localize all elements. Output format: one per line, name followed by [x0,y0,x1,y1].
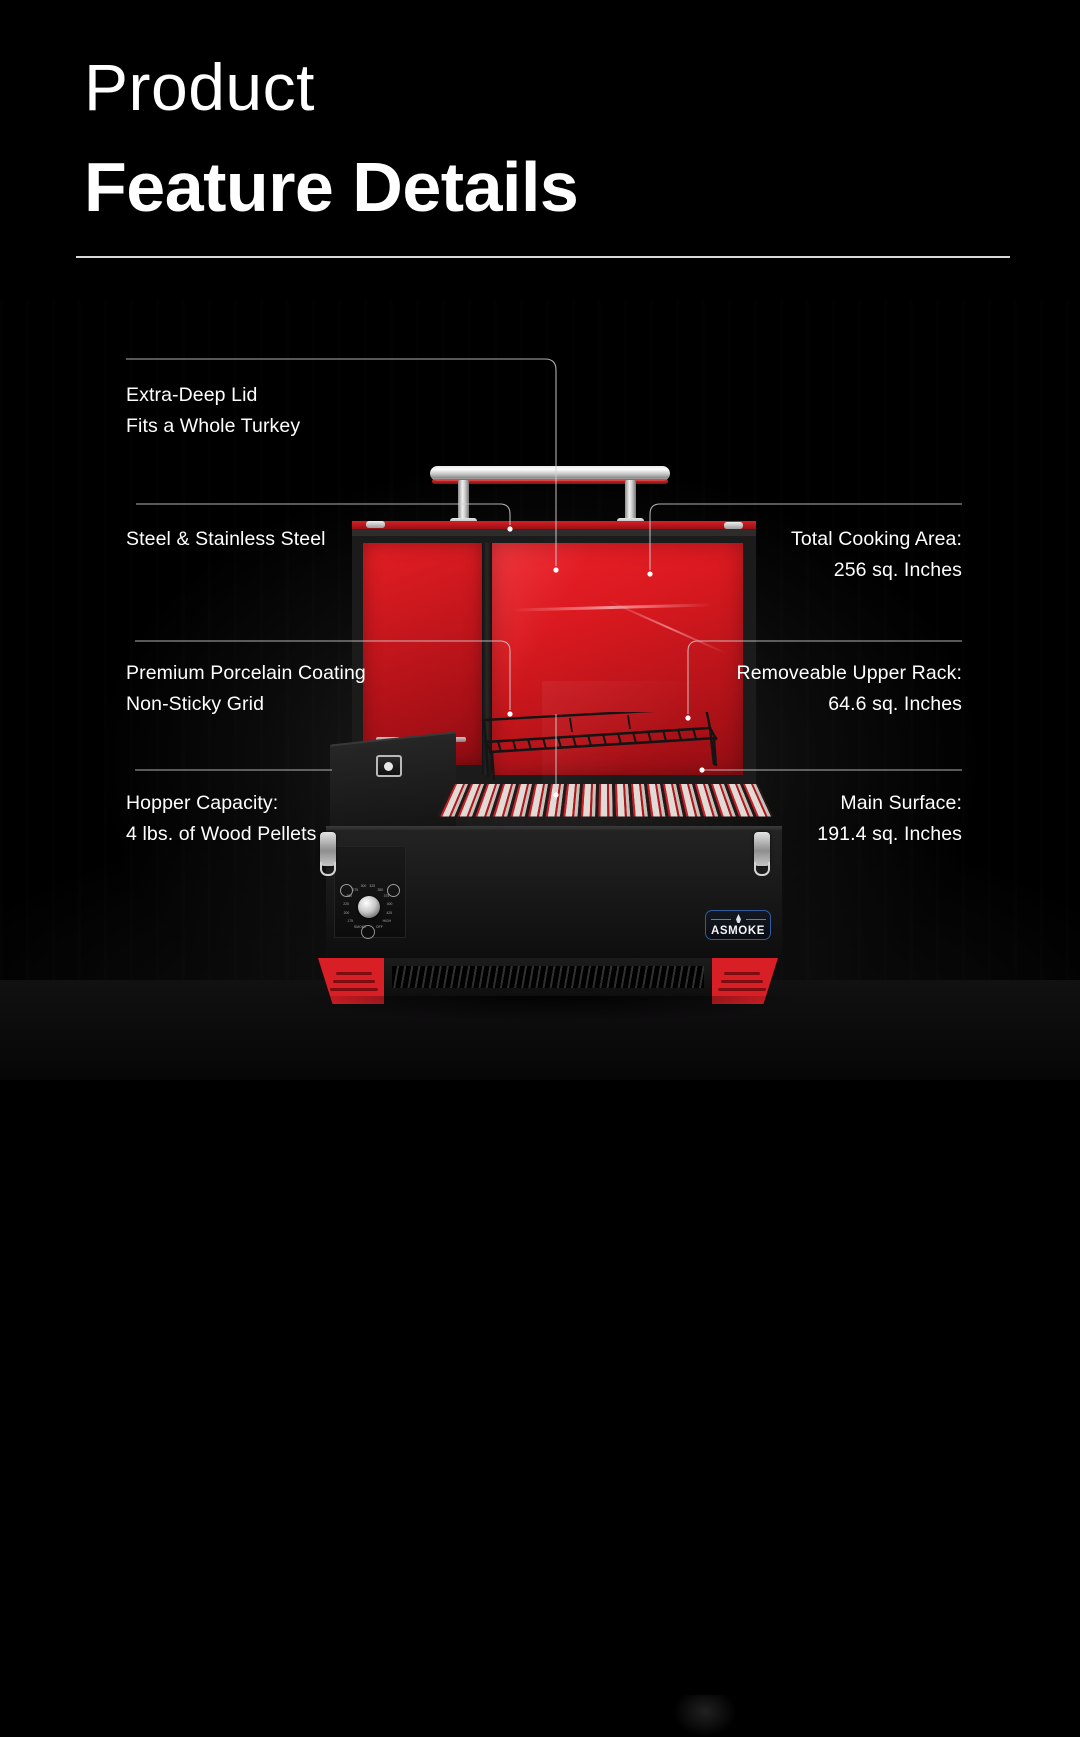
foot-slot [721,980,763,983]
callout-line: Extra-Deep Lid [126,380,300,411]
callout-line: Premium Porcelain Coating [126,658,366,689]
callout-line: Hopper Capacity: [126,788,316,819]
dial-temperature-mark: 200 [344,911,350,915]
brand-crest-icon [736,914,741,923]
brand-name: ASMOKE [711,926,765,938]
dial-temperature-mark: 425 [386,911,392,915]
callout-steel-stainless-steel: Steel & Stainless Steel [126,524,326,555]
dial-temperature-mark: 325 [369,884,375,888]
body-latch-right [754,832,770,866]
body-latch-left [320,832,336,866]
dial-temperature-mark: 350 [377,888,383,892]
callout-line: 191.4 sq. Inches [817,819,962,850]
removable-upper-rack [478,712,728,782]
dial-temperature-mark: 225 [343,902,349,906]
lid-handle-post-left [458,480,469,522]
lid-handle-post-right [625,480,636,522]
dial-temperature-mark: 300 [361,884,367,888]
callout-line: Removeable Upper Rack: [737,658,962,689]
asmoke-brand-badge: ASMOKE [705,910,771,940]
dial-temperature-mark: HIGH [383,919,391,923]
callout-main-surface: Main Surface: 191.4 sq. Inches [817,788,962,850]
callout-premium-porcelain-coating: Premium Porcelain Coating Non-Sticky Gri… [126,658,366,720]
dial-temperature-mark: 400 [387,902,393,906]
control-indicator-right [387,884,400,897]
lid-corner-tab-right [724,522,743,529]
temperature-dial-knob[interactable] [358,896,380,918]
control-panel-shading [673,1695,737,1737]
lid-corner-tab-left [366,521,385,528]
foot-slot [718,988,766,991]
product-ground-shadow [300,996,800,1022]
callout-extra-deep-lid: Extra-Deep Lid Fits a Whole Turkey [126,380,300,442]
callout-line: 64.6 sq. Inches [737,689,962,720]
grate-rods [437,784,773,816]
dial-temperature-mark: 275 [353,888,359,892]
hopper-latch-knob [384,762,393,771]
control-secondary-ring[interactable] [361,925,375,939]
body-latch-hook-right [754,862,770,876]
callout-line: 4 lbs. of Wood Pellets [126,819,316,850]
callout-line: Fits a Whole Turkey [126,411,300,442]
callout-total-cooking-area: Total Cooking Area: 256 sq. Inches [791,524,962,586]
callout-line: Main Surface: [817,788,962,819]
control-indicator-left [340,884,353,897]
bottom-vent-slats [392,966,704,988]
main-cooking-grate [437,784,773,816]
lid-inner-panel-left [363,543,483,765]
foot-slot [336,972,372,975]
foot-slot [724,972,760,975]
brand-rule-right [746,919,766,920]
callout-line: Non-Sticky Grid [126,689,366,720]
foot-slot [330,988,378,991]
callout-line: 256 sq. Inches [791,555,962,586]
body-latch-hook-left [320,862,336,876]
foot-slot [333,980,375,983]
callout-hopper-capacity: Hopper Capacity: 4 lbs. of Wood Pellets [126,788,316,850]
dial-temperature-mark: 175 [347,919,353,923]
callout-line: Total Cooking Area: [791,524,962,555]
brand-rule-left [711,919,731,920]
dial-temperature-mark: OFF [376,925,383,929]
callout-removeable-upper-rack: Removeable Upper Rack: 64.6 sq. Inches [737,658,962,720]
callout-line: Steel & Stainless Steel [126,524,326,555]
